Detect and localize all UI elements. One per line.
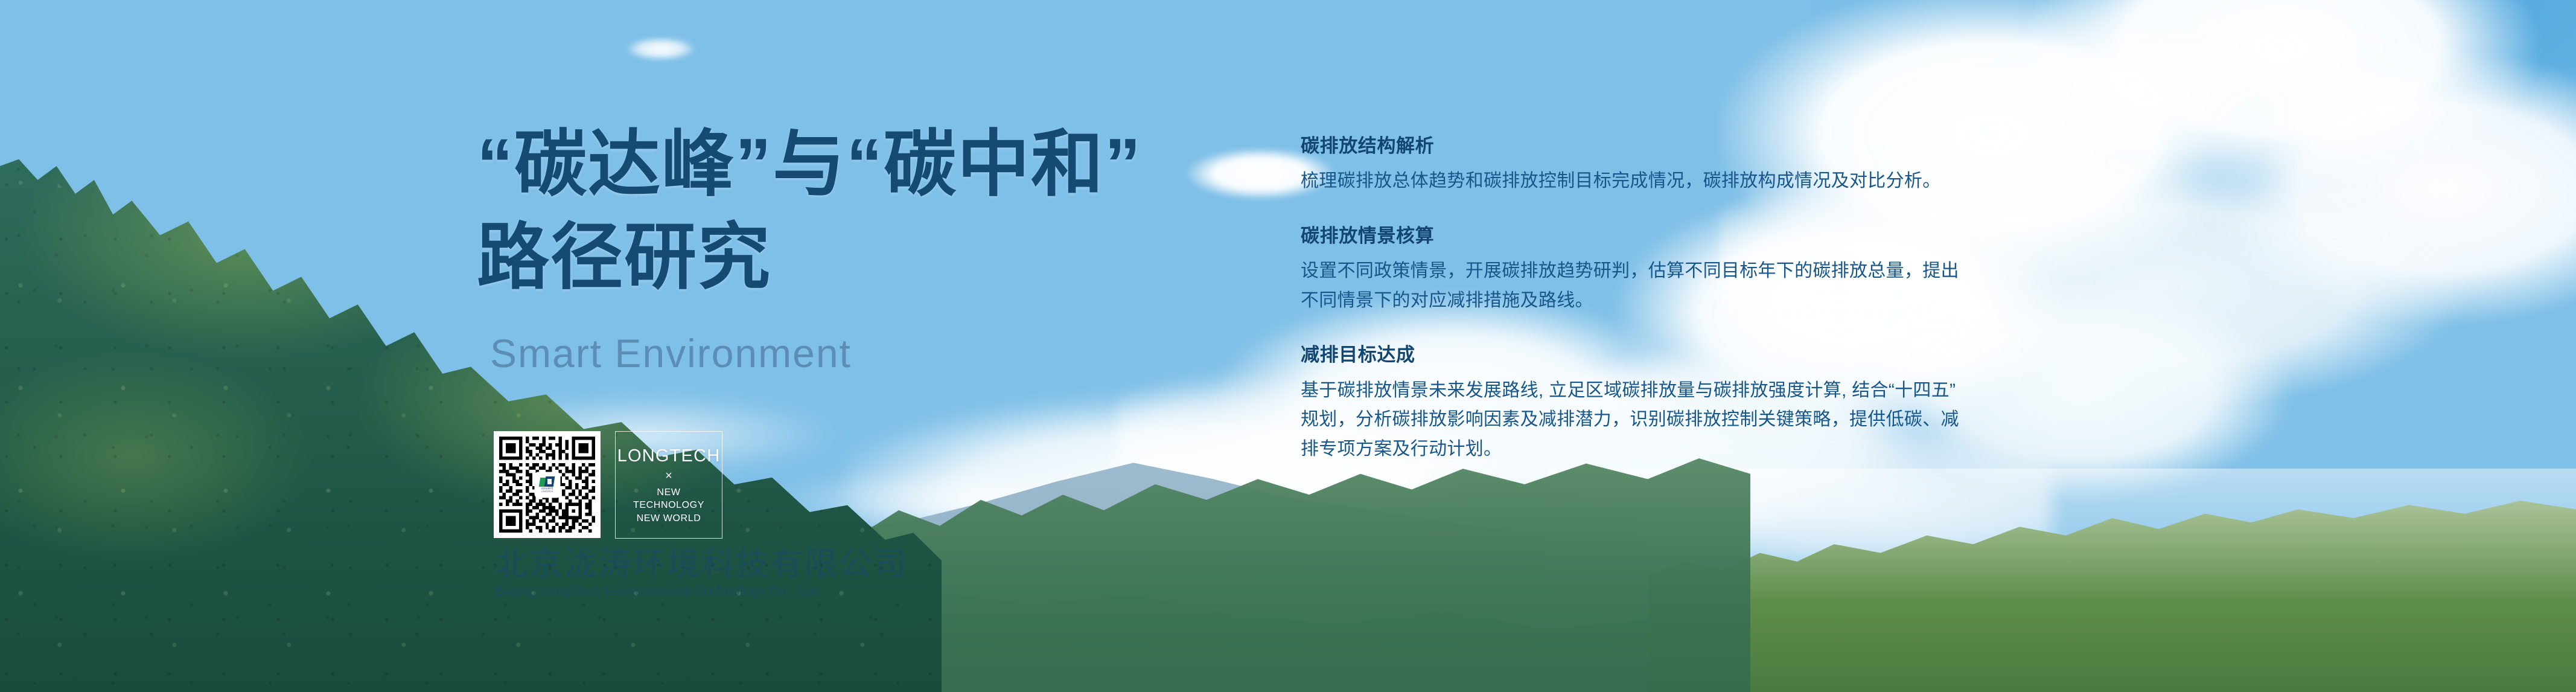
info-body: 设置不同政策情景，开展碳排放趋势研判，估算不同目标年下的碳排放总量，提出 不同情… [1301,257,2164,315]
info-blocks-column: 碳排放结构解析 梳理碳排放总体趋势和碳排放控制目标完成情况，碳排放构成情况及对比… [1301,134,2164,464]
info-paragraph-line: 不同情景下的对应减排措施及路线。 [1301,286,2164,316]
longtech-tagline: NEW TECHNOLOGY NEW WORLD [633,486,704,524]
headline-line-2: 路径研究 [477,211,1142,304]
qr-code-card[interactable]: 北京泷涛环境 LONGTECH [494,431,601,538]
multiply-separator-icon: × [665,470,672,482]
qr-center-logo: 北京泷涛环境 LONGTECH [535,473,560,497]
tagline-line-3: NEW WORLD [637,513,701,524]
info-paragraph-line: 排专项方案及行动计划。 [1301,435,2164,464]
carbon-neutrality-banner: “碳达峰”与“碳中和” 路径研究 Smart Environment [0,0,2576,692]
cloud-small-left [616,36,706,62]
info-body: 基于碳排放情景未来发展路线, 立足区域碳排放量与碳排放强度计算, 结合“十四五”… [1301,376,2164,464]
info-paragraph-line: 基于碳排放情景未来发展路线, 立足区域碳排放量与碳排放强度计算, 结合“十四五” [1301,376,2164,406]
info-heading: 碳排放结构解析 [1301,134,2164,158]
page-title: “碳达峰”与“碳中和” 路径研究 [477,118,1142,304]
info-paragraph-line: 规划，分析碳排放影响因素及减排潜力，识别碳排放控制关键策略，提供低碳、减 [1301,405,2164,435]
info-heading: 碳排放情景核算 [1301,224,2164,248]
qr-logo-text-en: LONGTECH [541,491,553,493]
headline-line-1: “碳达峰”与“碳中和” [477,118,1142,211]
info-paragraph-line: 设置不同政策情景，开展碳排放趋势研判，估算不同目标年下的碳排放总量，提出 [1301,257,2164,286]
info-paragraph-line: 梳理碳排放总体趋势和碳排放控制目标完成情况，碳排放构成情况及对比分析。 [1301,167,2164,196]
info-block-carbon-structure: 碳排放结构解析 梳理碳排放总体趋势和碳排放控制目标完成情况，碳排放构成情况及对比… [1301,134,2164,196]
longtech-logo-icon [540,476,555,487]
info-block-emission-target: 减排目标达成 基于碳排放情景未来发展路线, 立足区域碳排放量与碳排放强度计算, … [1301,343,2164,464]
info-block-scenario-accounting: 碳排放情景核算 设置不同政策情景，开展碳排放趋势研判，估算不同目标年下的碳排放总… [1301,224,2164,315]
longtech-slogan-frame: LONGTECH × NEW TECHNOLOGY NEW WORLD [615,431,722,539]
tagline-line-1: NEW [657,487,680,498]
info-heading: 减排目标达成 [1301,343,2164,367]
page-subtitle: Smart Environment [490,330,852,376]
longtech-brand-name: LONGTECH [617,447,721,465]
info-body: 梳理碳排放总体趋势和碳排放控制目标完成情况，碳排放构成情况及对比分析。 [1301,167,2164,196]
tagline-line-2: TECHNOLOGY [633,500,704,510]
